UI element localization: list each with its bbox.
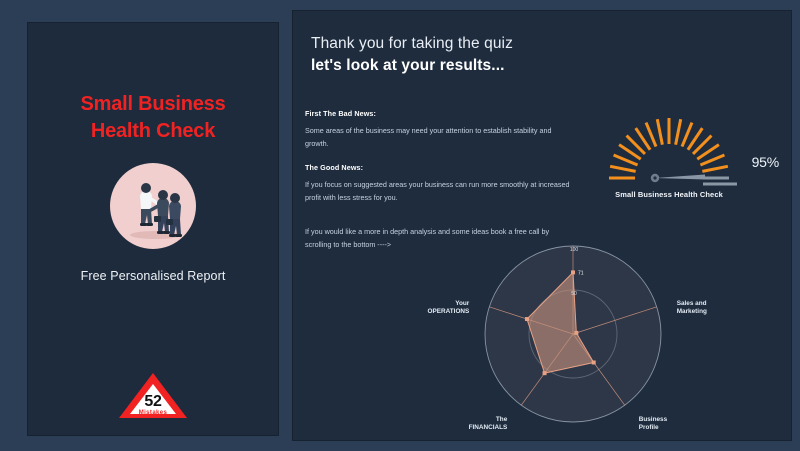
radar-ring-label: 100 [570, 247, 579, 253]
report-page: Small Business Health Check [0, 0, 800, 451]
business-handshake-illustration [110, 163, 196, 249]
gauge-tick [610, 166, 636, 171]
bad-news-heading: First The Bad News: [305, 109, 577, 118]
radar-point-label: 71 [578, 270, 584, 276]
radar-point [592, 360, 596, 364]
gauge-tick [702, 166, 728, 171]
radar-axis-label: BusinessProfile [639, 416, 668, 431]
good-news-text: If you focus on suggested areas your bus… [305, 179, 577, 204]
radar-point [543, 371, 547, 375]
radar-point [571, 270, 575, 274]
radar-axis-label: TheFINANCIALS [469, 416, 508, 431]
cover-title-line2: Health Check [48, 118, 258, 145]
gauge-needle [651, 174, 705, 182]
gauge-tick [676, 119, 681, 144]
heading-line-1: Thank you for taking the quiz [311, 35, 791, 53]
gauge-value-label: 95% [752, 154, 779, 170]
report-panel: Thank you for taking the quiz let's look… [292, 10, 792, 441]
radar-point [574, 331, 578, 335]
radar-graphic: 71 Your BESTResourceSales andMarketingBu… [423, 239, 723, 441]
gauge-tick [614, 155, 638, 165]
gauge-tick [657, 119, 662, 144]
mistakes-logo: 52 Mistakes [117, 371, 189, 421]
health-gauge: 95% Small Business Health Check [593, 106, 783, 206]
report-heading: Thank you for taking the quiz let's look… [293, 11, 791, 75]
gauge-ticks [609, 118, 737, 184]
figure-middle [151, 190, 170, 234]
logo-word: Mistakes [117, 410, 189, 416]
radar-chart: 71 Your BESTResourceSales andMarketingBu… [423, 239, 723, 441]
gauge-tick [700, 155, 724, 165]
cover-title: Small Business Health Check [48, 91, 258, 145]
cover-panel: Small Business Health Check [27, 22, 279, 436]
radar-axis-label: YourOPERATIONS [428, 300, 471, 315]
radar-axis-label: Sales andMarketing [677, 300, 707, 315]
good-news-heading: The Good News: [305, 163, 577, 172]
page-gap-divider [281, 0, 292, 451]
bad-news-text: Some areas of the business may need your… [305, 125, 577, 150]
logo-number: 52 [117, 393, 189, 411]
cover-title-line1: Small Business [48, 91, 258, 118]
gauge-tick [646, 123, 656, 147]
gauge-caption: Small Business Health Check [593, 190, 745, 199]
illustration-figures [110, 163, 196, 249]
radar-point [525, 317, 529, 321]
heading-line-2: let's look at your results... [311, 57, 791, 75]
radar-ring-label: 50 [571, 291, 577, 297]
cover-subtitle: Free Personalised Report [43, 269, 263, 283]
gauge-tick [682, 123, 692, 147]
